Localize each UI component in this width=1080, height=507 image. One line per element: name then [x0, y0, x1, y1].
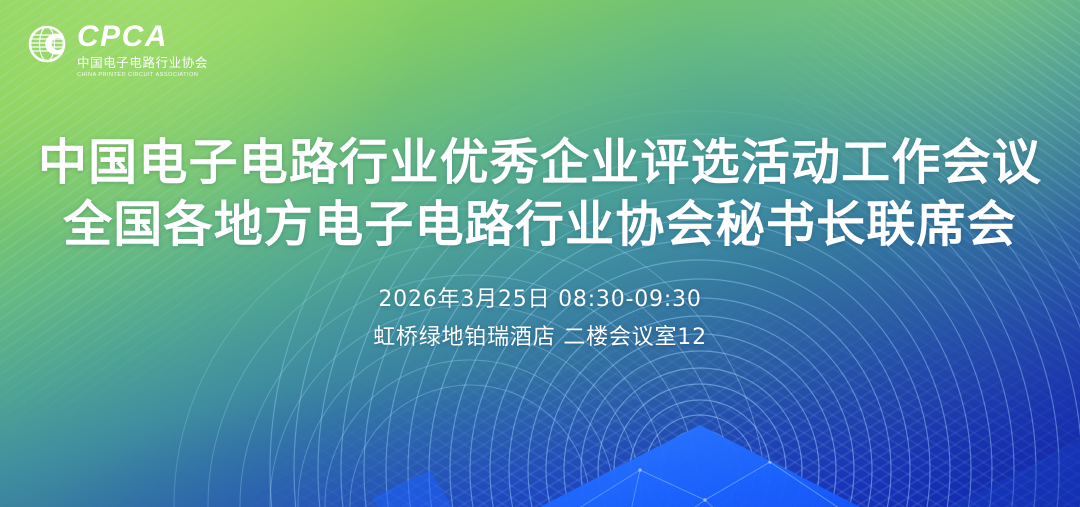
title-line-1: 中国电子电路行业优秀企业评选活动工作会议: [0, 132, 1080, 194]
cpca-logo: CPCA 中国电子电路行业协会 CHINA PRINTED CIRCUIT AS…: [26, 22, 208, 79]
cpca-wordmark: CPCA: [77, 22, 208, 52]
page-title: 中国电子电路行业优秀企业评选活动工作会议 全国各地方电子电路行业协会秘书长联席会: [0, 132, 1080, 256]
conference-banner: CPCA 中国电子电路行业协会 CHINA PRINTED CIRCUIT AS…: [0, 0, 1080, 507]
event-datetime: 2026年3月25日 08:30-09:30: [0, 281, 1080, 319]
cpca-name-en: CHINA PRINTED CIRCUIT ASSOCIATION: [77, 73, 208, 79]
title-line-2: 全国各地方电子电路行业协会秘书长联席会: [0, 194, 1080, 256]
cpca-name-cn: 中国电子电路行业协会: [77, 57, 208, 70]
event-venue: 虹桥绿地铂瑞酒店 二楼会议室12: [0, 319, 1080, 357]
event-details: 2026年3月25日 08:30-09:30 虹桥绿地铂瑞酒店 二楼会议室12: [0, 281, 1080, 357]
cpca-circular-mark-icon: [26, 23, 68, 70]
cpca-logo-text: CPCA 中国电子电路行业协会 CHINA PRINTED CIRCUIT AS…: [77, 22, 208, 79]
